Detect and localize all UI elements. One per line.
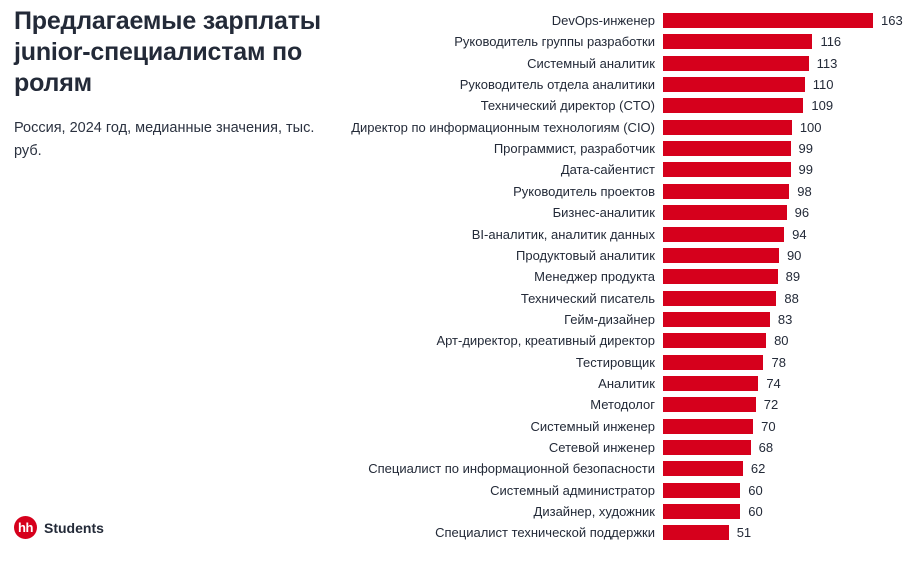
bar-fill (663, 525, 729, 540)
bar-category-label: Специалист технической поддержки (175, 525, 655, 540)
bar-row: Арт-директор, креативный директор80 (0, 333, 917, 348)
bar-track: 78 (663, 355, 786, 370)
bar-value-label: 99 (799, 141, 813, 156)
bar-value-label: 99 (799, 162, 813, 177)
bar-track: 83 (663, 312, 792, 327)
bar-value-label: 74 (766, 376, 780, 391)
bar-category-label: Аналитик (175, 376, 655, 391)
bar-fill (663, 227, 784, 242)
bar-fill (663, 397, 756, 412)
bar-category-label: Директор по информационным технологиям (… (175, 120, 655, 135)
bar-row: Аналитик74 (0, 376, 917, 391)
bar-category-label: DevOps-инженер (175, 13, 655, 28)
bar-fill (663, 77, 805, 92)
bar-category-label: BI-аналитик, аналитик данных (175, 227, 655, 242)
bar-row: Гейм-дизайнер83 (0, 312, 917, 327)
bar-value-label: 96 (795, 205, 809, 220)
bar-fill (663, 248, 779, 263)
bar-row: Тестировщик78 (0, 355, 917, 370)
bar-value-label: 68 (759, 440, 773, 455)
bar-row: Директор по информационным технологиям (… (0, 120, 917, 135)
bar-value-label: 89 (786, 269, 800, 284)
bar-row: BI-аналитик, аналитик данных94 (0, 227, 917, 242)
bar-value-label: 80 (774, 333, 788, 348)
bar-row: Методолог72 (0, 397, 917, 412)
bar-value-label: 83 (778, 312, 792, 327)
bar-fill (663, 312, 770, 327)
bar-category-label: Технический писатель (175, 291, 655, 306)
bar-category-label: Системный администратор (175, 483, 655, 498)
bar-row: Бизнес-аналитик96 (0, 205, 917, 220)
bar-fill (663, 355, 763, 370)
bar-value-label: 109 (811, 98, 833, 113)
bar-fill (663, 440, 751, 455)
bar-category-label: Арт-директор, креативный директор (175, 333, 655, 348)
bar-value-label: 113 (817, 56, 838, 71)
bar-value-label: 88 (784, 291, 798, 306)
bar-category-label: Менеджер продукта (175, 269, 655, 284)
bar-row: Продуктовый аналитик90 (0, 248, 917, 263)
bar-value-label: 94 (792, 227, 806, 242)
bar-track: 60 (663, 504, 763, 519)
bar-track: 100 (663, 120, 822, 135)
bar-category-label: Системный инженер (175, 419, 655, 434)
bar-value-label: 51 (737, 525, 751, 540)
bar-track: 94 (663, 227, 807, 242)
salary-bar-chart: DevOps-инженер163Руководитель группы раз… (0, 0, 917, 561)
bar-category-label: Сетевой инженер (175, 440, 655, 455)
bar-category-label: Руководитель группы разработки (175, 34, 655, 49)
bar-category-label: Системный аналитик (175, 56, 655, 71)
bar-row: Системный администратор60 (0, 483, 917, 498)
bar-category-label: Методолог (175, 397, 655, 412)
bar-row: Руководитель отдела аналитики110 (0, 77, 917, 92)
bar-track: 99 (663, 162, 813, 177)
bar-track: 116 (663, 34, 841, 49)
bar-fill (663, 504, 740, 519)
bar-row: Руководитель проектов98 (0, 184, 917, 199)
bar-track: 96 (663, 205, 809, 220)
bar-category-label: Продуктовый аналитик (175, 248, 655, 263)
bar-category-label: Гейм-дизайнер (175, 312, 655, 327)
bar-track: 72 (663, 397, 778, 412)
bar-value-label: 100 (800, 120, 822, 135)
bar-row: Специалист технической поддержки51 (0, 525, 917, 540)
bar-value-label: 72 (764, 397, 778, 412)
bar-fill (663, 13, 873, 28)
bar-category-label: Специалист по информационной безопасност… (175, 461, 655, 476)
bar-track: 98 (663, 184, 812, 199)
bar-category-label: Руководитель проектов (175, 184, 655, 199)
bar-fill (663, 56, 809, 71)
bar-row: Руководитель группы разработки116 (0, 34, 917, 49)
bar-track: 62 (663, 461, 765, 476)
bar-fill (663, 483, 740, 498)
bar-value-label: 90 (787, 248, 801, 263)
bar-category-label: Дизайнер, художник (175, 504, 655, 519)
bar-category-label: Дата-сайентист (175, 162, 655, 177)
bar-row: Системный аналитик113 (0, 56, 917, 71)
bar-category-label: Технический директор (CTO) (175, 98, 655, 113)
bar-value-label: 60 (748, 504, 762, 519)
bar-row: Технический директор (CTO)109 (0, 98, 917, 113)
bar-row: Менеджер продукта89 (0, 269, 917, 284)
bar-fill (663, 461, 743, 476)
bar-fill (663, 120, 792, 135)
bar-fill (663, 376, 758, 391)
bar-value-label: 70 (761, 419, 775, 434)
bar-fill (663, 141, 791, 156)
bar-fill (663, 98, 803, 113)
bar-row: Дизайнер, художник60 (0, 504, 917, 519)
bar-track: 51 (663, 525, 751, 540)
bar-fill (663, 291, 776, 306)
bar-row: Технический писатель88 (0, 291, 917, 306)
bar-row: DevOps-инженер163 (0, 13, 917, 28)
bar-row: Системный инженер70 (0, 419, 917, 434)
bar-category-label: Программист, разработчик (175, 141, 655, 156)
bar-value-label: 98 (797, 184, 811, 199)
bar-track: 74 (663, 376, 781, 391)
bar-row: Дата-сайентист99 (0, 162, 917, 177)
bar-track: 109 (663, 98, 833, 113)
bar-value-label: 78 (771, 355, 785, 370)
bar-fill (663, 419, 753, 434)
bar-track: 70 (663, 419, 776, 434)
bar-category-label: Бизнес-аналитик (175, 205, 655, 220)
chart-page: Предлагаемые зарплаты junior-специалиста… (0, 0, 917, 561)
bar-fill (663, 34, 812, 49)
bar-value-label: 62 (751, 461, 765, 476)
bar-track: 163 (663, 13, 903, 28)
bar-value-label: 116 (820, 34, 841, 49)
bar-fill (663, 333, 766, 348)
bar-row: Специалист по информационной безопасност… (0, 461, 917, 476)
bar-track: 113 (663, 56, 837, 71)
bar-track: 99 (663, 141, 813, 156)
bar-track: 68 (663, 440, 773, 455)
bar-row: Программист, разработчик99 (0, 141, 917, 156)
bar-fill (663, 205, 787, 220)
bar-fill (663, 184, 789, 199)
bar-track: 90 (663, 248, 801, 263)
bar-category-label: Тестировщик (175, 355, 655, 370)
bar-category-label: Руководитель отдела аналитики (175, 77, 655, 92)
bar-value-label: 110 (813, 77, 834, 92)
bar-track: 60 (663, 483, 763, 498)
bar-value-label: 163 (881, 13, 903, 28)
bar-track: 88 (663, 291, 799, 306)
bar-track: 110 (663, 77, 833, 92)
bar-track: 80 (663, 333, 789, 348)
bar-row: Сетевой инженер68 (0, 440, 917, 455)
bar-fill (663, 269, 778, 284)
bar-track: 89 (663, 269, 800, 284)
bar-fill (663, 162, 791, 177)
bar-value-label: 60 (748, 483, 762, 498)
